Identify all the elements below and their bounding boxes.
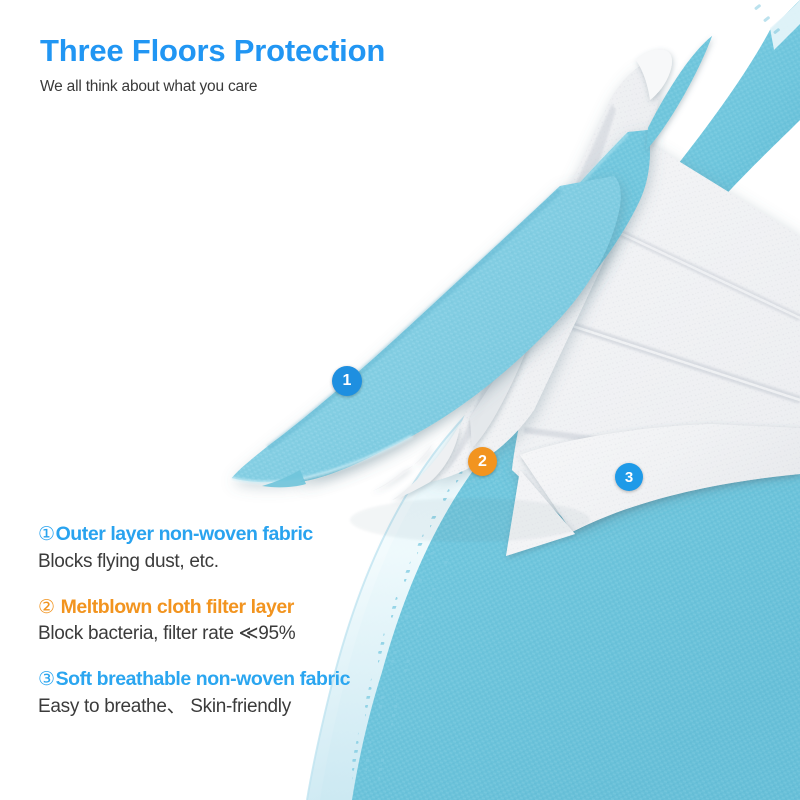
legend-number-1: ①: [38, 524, 55, 546]
legend-number-3: ③: [38, 669, 55, 691]
legend-number-2: ②: [38, 597, 55, 619]
page-title: Three Floors Protection: [40, 34, 385, 68]
legend: ① Outer layer non-woven fabric Blocks fl…: [38, 523, 468, 719]
legend-description-1: Blocks flying dust, etc.: [38, 551, 468, 574]
page-subtitle: We all think about what you care: [40, 78, 385, 96]
legend-heading-3: ③ Soft breathable non-woven fabric: [38, 668, 468, 691]
callout-badge-1: 1: [332, 366, 362, 396]
legend-item-3: ③ Soft breathable non-woven fabric Easy …: [38, 668, 468, 719]
header: Three Floors Protection We all think abo…: [40, 34, 385, 96]
legend-description-2: Block bacteria, filter rate ≪95%: [38, 623, 468, 646]
product-infographic: Three Floors Protection We all think abo…: [0, 0, 800, 800]
legend-heading-1: ① Outer layer non-woven fabric: [38, 523, 468, 546]
callout-badge-3: 3: [615, 463, 643, 491]
legend-heading-2: ② Meltblown cloth filter layer: [38, 596, 468, 619]
legend-heading-text-1: Outer layer non-woven fabric: [56, 523, 313, 545]
legend-heading-text-3: Soft breathable non-woven fabric: [56, 668, 350, 690]
callout-badge-2: 2: [468, 447, 497, 476]
legend-item-2: ② Meltblown cloth filter layer Block bac…: [38, 596, 468, 647]
legend-item-1: ① Outer layer non-woven fabric Blocks fl…: [38, 523, 468, 574]
legend-heading-text-2: Meltblown cloth filter layer: [61, 596, 294, 618]
legend-description-3: Easy to breathe、 Skin-friendly: [38, 696, 468, 719]
